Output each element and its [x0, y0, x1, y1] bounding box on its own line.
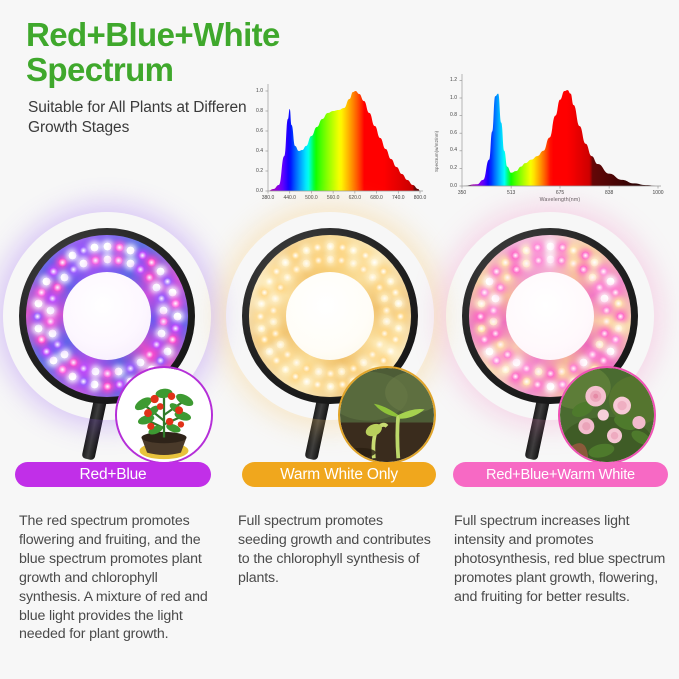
led-dot — [391, 335, 400, 344]
led-dot — [491, 294, 500, 303]
led-dot — [271, 294, 280, 303]
led-dot — [281, 365, 290, 374]
led-dot — [602, 317, 611, 326]
led-dot — [496, 283, 505, 292]
led-dot — [396, 312, 405, 321]
led-dot — [272, 267, 281, 276]
led-dot — [558, 243, 567, 252]
led-dot — [103, 369, 112, 378]
lamp-image-red-blue-warm-white — [448, 218, 674, 468]
product-column-warm-white: Warm White Only Full spectrum promotes s… — [228, 218, 454, 679]
led-dot — [349, 364, 358, 373]
led-dot — [394, 299, 403, 308]
led-dot — [380, 329, 389, 338]
led-dot — [171, 324, 180, 333]
chart-y-tick: 0.0 — [432, 183, 457, 189]
led-dot — [37, 288, 46, 297]
inset-bubble-pepper-plant — [115, 366, 213, 464]
led-dot — [115, 243, 124, 252]
led-dot — [291, 251, 300, 260]
led-dot — [90, 380, 99, 389]
led-dot — [79, 259, 88, 268]
led-dot — [114, 367, 123, 376]
led-dot — [546, 369, 555, 378]
led-dot — [512, 265, 521, 274]
led-dot — [534, 367, 543, 376]
chart-y-tick: 0.6 — [246, 128, 263, 134]
led-dot — [546, 382, 555, 391]
led-dot — [557, 256, 566, 265]
led-dot — [79, 364, 88, 373]
led-dot — [103, 382, 112, 391]
header-section: Red+Blue+White Spectrum Suitable for All… — [0, 0, 679, 215]
led-dot — [386, 347, 395, 356]
product-label-red-blue: Red+Blue — [15, 462, 211, 487]
led-dot — [48, 294, 57, 303]
led-dot — [349, 246, 358, 255]
page-subtitle: Suitable for All Plants at Different Gro… — [28, 98, 256, 139]
led-dot — [302, 246, 311, 255]
led-dot — [281, 258, 290, 267]
led-dot — [522, 259, 531, 268]
led-dot — [283, 273, 292, 282]
chart-y-tick: 0.4 — [246, 148, 263, 154]
led-dot — [33, 312, 42, 321]
led-dot — [492, 267, 501, 276]
led-dot — [269, 317, 278, 326]
title-block: Red+Blue+White Spectrum Suitable for All… — [26, 18, 256, 139]
led-dot — [326, 255, 335, 264]
led-dot — [168, 288, 177, 297]
led-dot — [361, 251, 370, 260]
led-dot — [546, 255, 555, 264]
chart-y-tick: 1.2 — [432, 77, 457, 83]
led-dot — [569, 246, 578, 255]
led-dot — [557, 367, 566, 376]
led-dot — [379, 267, 388, 276]
led-dot — [91, 367, 100, 376]
led-dot — [522, 377, 531, 386]
led-dot — [338, 243, 347, 252]
led-dot — [606, 347, 615, 356]
ring-inner-disc — [63, 272, 151, 360]
led-dot — [257, 324, 266, 333]
page-title-line1: Red+Blue+White — [26, 16, 280, 53]
led-dot — [375, 283, 384, 292]
chart-x-tick: 838 — [593, 190, 625, 196]
led-dot — [276, 283, 285, 292]
led-dot — [569, 364, 578, 373]
led-dot — [265, 277, 274, 286]
led-dot — [171, 299, 180, 308]
inset-bubble-rose-bush — [558, 366, 656, 464]
led-dot — [68, 372, 77, 381]
led-dot — [599, 267, 608, 276]
led-dot — [69, 358, 78, 367]
chart-x-tick: 1000 — [642, 190, 674, 196]
led-dot — [156, 267, 165, 276]
led-dot — [314, 256, 323, 265]
led-dot — [590, 258, 599, 267]
inset-bubble-seedling-sprout — [338, 366, 436, 464]
led-dot — [60, 273, 69, 282]
led-dot — [326, 242, 335, 251]
led-dot — [359, 358, 368, 367]
led-dot — [337, 367, 346, 376]
chart-y-axis-label: Spectrum(w/m2/nm) — [434, 131, 439, 172]
led-dot — [511, 372, 520, 381]
page-title-line2: Spectrum — [26, 51, 173, 88]
ring-inner-disc — [286, 272, 374, 360]
product-label-red-blue-warm-white: Red+Blue+Warm White — [453, 462, 668, 487]
led-dot — [283, 350, 292, 359]
led-dot — [314, 367, 323, 376]
led-dot — [379, 356, 388, 365]
led-dot — [68, 251, 77, 260]
led-dot — [58, 258, 67, 267]
product-description-warm-white: Full spectrum promotes seeding growth an… — [238, 512, 434, 588]
led-dot — [595, 340, 604, 349]
led-dot — [49, 267, 58, 276]
led-dot — [46, 306, 55, 315]
led-dot — [163, 277, 172, 286]
product-label-text: Warm White Only — [280, 466, 398, 484]
led-dot — [292, 358, 301, 367]
led-dot — [476, 312, 485, 321]
led-dot — [616, 312, 625, 321]
led-dot — [485, 277, 494, 286]
spectrum-chart-1-svg — [246, 78, 424, 208]
led-dot — [496, 340, 505, 349]
led-dot — [480, 335, 489, 344]
led-dot — [522, 364, 531, 373]
led-dot — [69, 265, 78, 274]
led-dot — [370, 258, 379, 267]
led-dot — [46, 317, 55, 326]
spectrum-chart-2: 0.00.20.40.60.81.01.23505136758381000Wav… — [432, 68, 664, 210]
led-dot — [302, 364, 311, 373]
led-dot — [501, 365, 510, 374]
page-title: Red+Blue+White Spectrum — [26, 18, 256, 88]
product-description-red-blue-warm-white: Full spectrum increases light intensity … — [454, 512, 666, 606]
led-dot — [368, 273, 377, 282]
led-dot — [79, 246, 88, 255]
led-dot — [136, 358, 145, 367]
led-dot — [136, 265, 145, 274]
led-dot — [157, 294, 166, 303]
led-dot — [265, 347, 274, 356]
led-dot — [138, 251, 147, 260]
led-dot — [42, 347, 51, 356]
led-dot — [90, 243, 99, 252]
chart-x-tick: 350 — [446, 190, 478, 196]
led-dot — [606, 277, 615, 286]
led-dot — [156, 356, 165, 365]
led-dot — [581, 251, 590, 260]
led-dot — [512, 358, 521, 367]
led-dot — [257, 299, 266, 308]
led-dot — [145, 273, 154, 282]
spectrum-chart-2-svg — [432, 68, 664, 210]
led-dot — [269, 306, 278, 315]
led-dot — [34, 324, 43, 333]
led-dot — [349, 259, 358, 268]
led-dot — [260, 335, 269, 344]
spectrum-chart-1: 0.00.20.40.60.81.0380.0440.0500.0560.062… — [246, 78, 424, 208]
led-dot — [534, 256, 543, 265]
ring-inner-disc — [506, 272, 594, 360]
led-dot — [600, 294, 609, 303]
led-dot — [37, 335, 46, 344]
pepper-plant-illustration — [117, 368, 211, 462]
led-dot — [614, 299, 623, 308]
led-dot — [152, 340, 161, 349]
led-dot — [103, 242, 112, 251]
led-dot — [114, 256, 123, 265]
led-dot — [313, 243, 322, 252]
led-dot — [42, 277, 51, 286]
chart-y-tick: 0.0 — [246, 188, 263, 194]
product-label-text: Red+Blue+Warm White — [486, 467, 635, 483]
led-dot — [391, 288, 400, 297]
led-dot — [126, 364, 135, 373]
led-dot — [49, 356, 58, 365]
led-dot — [145, 350, 154, 359]
led-dot — [380, 294, 389, 303]
led-dot — [511, 251, 520, 260]
chart-y-tick: 1.0 — [246, 88, 263, 94]
product-column-red-blue-warm-white: Red+Blue+Warm White Full spectrum increa… — [448, 218, 674, 679]
led-dot — [368, 350, 377, 359]
led-dot — [522, 246, 531, 255]
led-dot — [595, 283, 604, 292]
led-dot — [168, 335, 177, 344]
led-dot — [34, 299, 43, 308]
led-dot — [48, 329, 57, 338]
led-dot — [492, 356, 501, 365]
led-dot — [159, 317, 168, 326]
led-dot — [256, 312, 265, 321]
led-dot — [271, 329, 280, 338]
product-description-red-blue: The red spectrum promotes flowering and … — [19, 512, 214, 644]
led-dot — [546, 242, 555, 251]
led-dot — [79, 377, 88, 386]
led-dot — [152, 283, 161, 292]
led-dot — [359, 265, 368, 274]
led-dot — [126, 259, 135, 268]
chart-x-tick: 513 — [495, 190, 527, 196]
led-dot — [382, 317, 391, 326]
seedling-illustration — [340, 368, 434, 462]
led-dot — [599, 356, 608, 365]
led-dot — [489, 317, 498, 326]
chart-y-tick: 0.8 — [432, 112, 457, 118]
led-dot — [611, 288, 620, 297]
led-dot — [477, 324, 486, 333]
led-dot — [611, 335, 620, 344]
led-dot — [503, 273, 512, 282]
led-dot — [382, 306, 391, 315]
led-dot — [326, 382, 335, 391]
led-dot — [588, 350, 597, 359]
led-dot — [394, 324, 403, 333]
led-dot — [302, 259, 311, 268]
led-dot — [103, 255, 112, 264]
lamp-image-red-blue — [5, 218, 231, 468]
led-dot — [501, 258, 510, 267]
led-dot — [163, 347, 172, 356]
led-dot — [159, 306, 168, 315]
led-dot — [126, 246, 135, 255]
led-dot — [579, 358, 588, 367]
led-dot — [600, 329, 609, 338]
product-columns: Red+Blue The red spectrum promotes flowe… — [0, 218, 679, 679]
led-dot — [375, 340, 384, 349]
chart-y-tick: 1.0 — [432, 95, 457, 101]
led-dot — [276, 340, 285, 349]
product-column-red-blue: Red+Blue The red spectrum promotes flowe… — [5, 218, 231, 679]
led-dot — [579, 265, 588, 274]
product-label-warm-white: Warm White Only — [242, 462, 436, 487]
led-dot — [60, 350, 69, 359]
led-dot — [602, 306, 611, 315]
led-dot — [173, 312, 182, 321]
led-dot — [533, 380, 542, 389]
led-dot — [53, 340, 62, 349]
led-dot — [569, 259, 578, 268]
chart-x-axis-label: Wavelength(nm) — [462, 197, 658, 203]
led-dot — [503, 350, 512, 359]
led-dot — [157, 329, 166, 338]
infographic-page: Red+Blue+White Spectrum Suitable for All… — [0, 0, 679, 679]
led-dot — [337, 256, 346, 265]
led-dot — [491, 329, 500, 338]
led-dot — [291, 372, 300, 381]
led-dot — [326, 369, 335, 378]
led-dot — [477, 299, 486, 308]
led-dot — [533, 243, 542, 252]
led-dot — [313, 380, 322, 389]
led-dot — [91, 256, 100, 265]
led-dot — [480, 288, 489, 297]
led-dot — [485, 347, 494, 356]
led-dot — [489, 306, 498, 315]
rose-bush-illustration — [560, 368, 654, 462]
led-dot — [58, 365, 67, 374]
chart-y-tick: 0.2 — [246, 168, 263, 174]
led-dot — [53, 283, 62, 292]
led-dot — [614, 324, 623, 333]
led-dot — [260, 288, 269, 297]
chart-y-tick: 0.8 — [246, 108, 263, 114]
led-dot — [292, 265, 301, 274]
product-label-text: Red+Blue — [80, 466, 147, 484]
led-dot — [588, 273, 597, 282]
chart-x-tick: 675 — [544, 190, 576, 196]
led-dot — [302, 377, 311, 386]
led-dot — [386, 277, 395, 286]
led-dot — [272, 356, 281, 365]
lamp-image-warm-white — [228, 218, 454, 468]
led-dot — [147, 258, 156, 267]
